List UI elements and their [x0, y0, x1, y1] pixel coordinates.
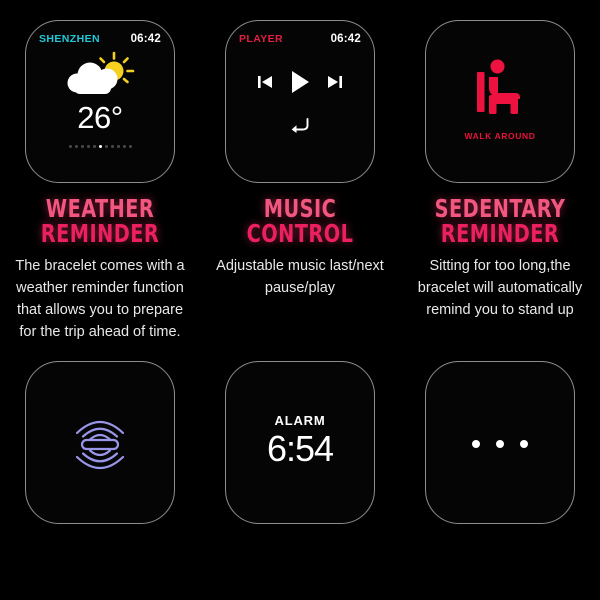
page-dot	[111, 145, 114, 148]
caption-column-weather: WEATHER REMINDER The bracelet comes with…	[0, 183, 200, 343]
weather-city-label: SHENZHEN	[39, 33, 100, 45]
more-screen	[426, 362, 574, 523]
music-status-bar: PLAYER 06:42	[239, 33, 361, 45]
feature-title-line2: CONTROL	[217, 222, 382, 247]
vibration-screen	[26, 362, 174, 523]
feature-title-sedentary: SEDENTARY REMINDER	[417, 197, 582, 246]
feature-title-line2: REMINDER	[17, 222, 182, 247]
sedentary-screen: WALK AROUND	[426, 21, 574, 182]
page-indicator-dots	[39, 145, 161, 148]
temperature-value: 26°	[39, 102, 161, 133]
bottom-column-vibration	[0, 361, 200, 524]
page-dot	[105, 145, 108, 148]
feature-description-music: Adjustable music last/next pause/play	[204, 255, 396, 299]
page-dot	[69, 145, 72, 148]
page-dot	[123, 145, 126, 148]
caption-column-music: MUSIC CONTROL Adjustable music last/next…	[200, 183, 400, 343]
feature-title-line1: MUSIC	[217, 197, 382, 222]
weather-status-bar: SHENZHEN 06:42	[39, 33, 161, 45]
ellipsis-dot	[520, 440, 528, 448]
music-time-label: 06:42	[331, 33, 361, 45]
ellipsis-dot	[472, 440, 480, 448]
music-back-control	[239, 117, 361, 138]
page-dot-active	[99, 145, 102, 148]
bottom-column-more	[400, 361, 600, 524]
feature-column-music: PLAYER 06:42	[200, 20, 400, 183]
feature-title-weather: WEATHER REMINDER	[17, 197, 182, 246]
feature-description-sedentary: Sitting for too long,the bracelet will a…	[404, 255, 596, 321]
ellipsis-dot	[496, 440, 504, 448]
next-track-icon[interactable]	[327, 74, 342, 95]
music-screen: PLAYER 06:42	[226, 21, 374, 182]
feature-column-weather: SHENZHEN 06:42	[0, 20, 200, 183]
bottom-column-alarm: ALARM 6:54	[200, 361, 400, 524]
partly-cloudy-icon	[57, 51, 143, 101]
alarm-time-value: 6:54	[267, 429, 333, 469]
feature-column-sedentary: WALK AROUND	[400, 20, 600, 183]
watch-face-alarm[interactable]: ALARM 6:54	[225, 361, 375, 524]
bottom-watch-row: ALARM 6:54	[0, 361, 600, 524]
person-sitting-icon	[472, 59, 528, 122]
back-arrow-icon[interactable]	[290, 117, 310, 138]
page-dot	[93, 145, 96, 148]
music-transport-controls	[239, 70, 361, 99]
ellipsis-icon[interactable]	[439, 374, 561, 513]
product-feature-board: SHENZHEN 06:42	[0, 0, 600, 600]
page-dot	[117, 145, 120, 148]
sedentary-screen-label: WALK AROUND	[465, 131, 536, 141]
page-dot	[75, 145, 78, 148]
feature-title-line2: REMINDER	[417, 222, 582, 247]
vibration-waves-icon	[64, 405, 136, 482]
feature-title-line1: WEATHER	[17, 197, 182, 222]
caption-row: WEATHER REMINDER The bracelet comes with…	[0, 183, 600, 343]
page-dot	[129, 145, 132, 148]
previous-track-icon[interactable]	[258, 74, 273, 95]
feature-description-weather: The bracelet comes with a weather remind…	[4, 255, 196, 343]
alarm-screen: ALARM 6:54	[226, 362, 374, 523]
alarm-label: ALARM	[275, 413, 326, 428]
music-player-label: PLAYER	[239, 33, 283, 45]
weather-time-label: 06:42	[131, 33, 161, 45]
top-watch-row: SHENZHEN 06:42	[0, 0, 600, 183]
caption-column-sedentary: SEDENTARY REMINDER Sitting for too long,…	[400, 183, 600, 343]
page-dot	[87, 145, 90, 148]
watch-face-more[interactable]	[425, 361, 575, 524]
feature-title-line1: SEDENTARY	[417, 197, 582, 222]
watch-face-music[interactable]: PLAYER 06:42	[225, 20, 375, 183]
weather-screen: SHENZHEN 06:42	[26, 21, 174, 182]
watch-face-sedentary[interactable]: WALK AROUND	[425, 20, 575, 183]
feature-title-music: MUSIC CONTROL	[217, 197, 382, 246]
watch-face-vibration[interactable]	[25, 361, 175, 524]
watch-face-weather[interactable]: SHENZHEN 06:42	[25, 20, 175, 183]
page-dot	[81, 145, 84, 148]
play-icon[interactable]	[290, 70, 310, 99]
